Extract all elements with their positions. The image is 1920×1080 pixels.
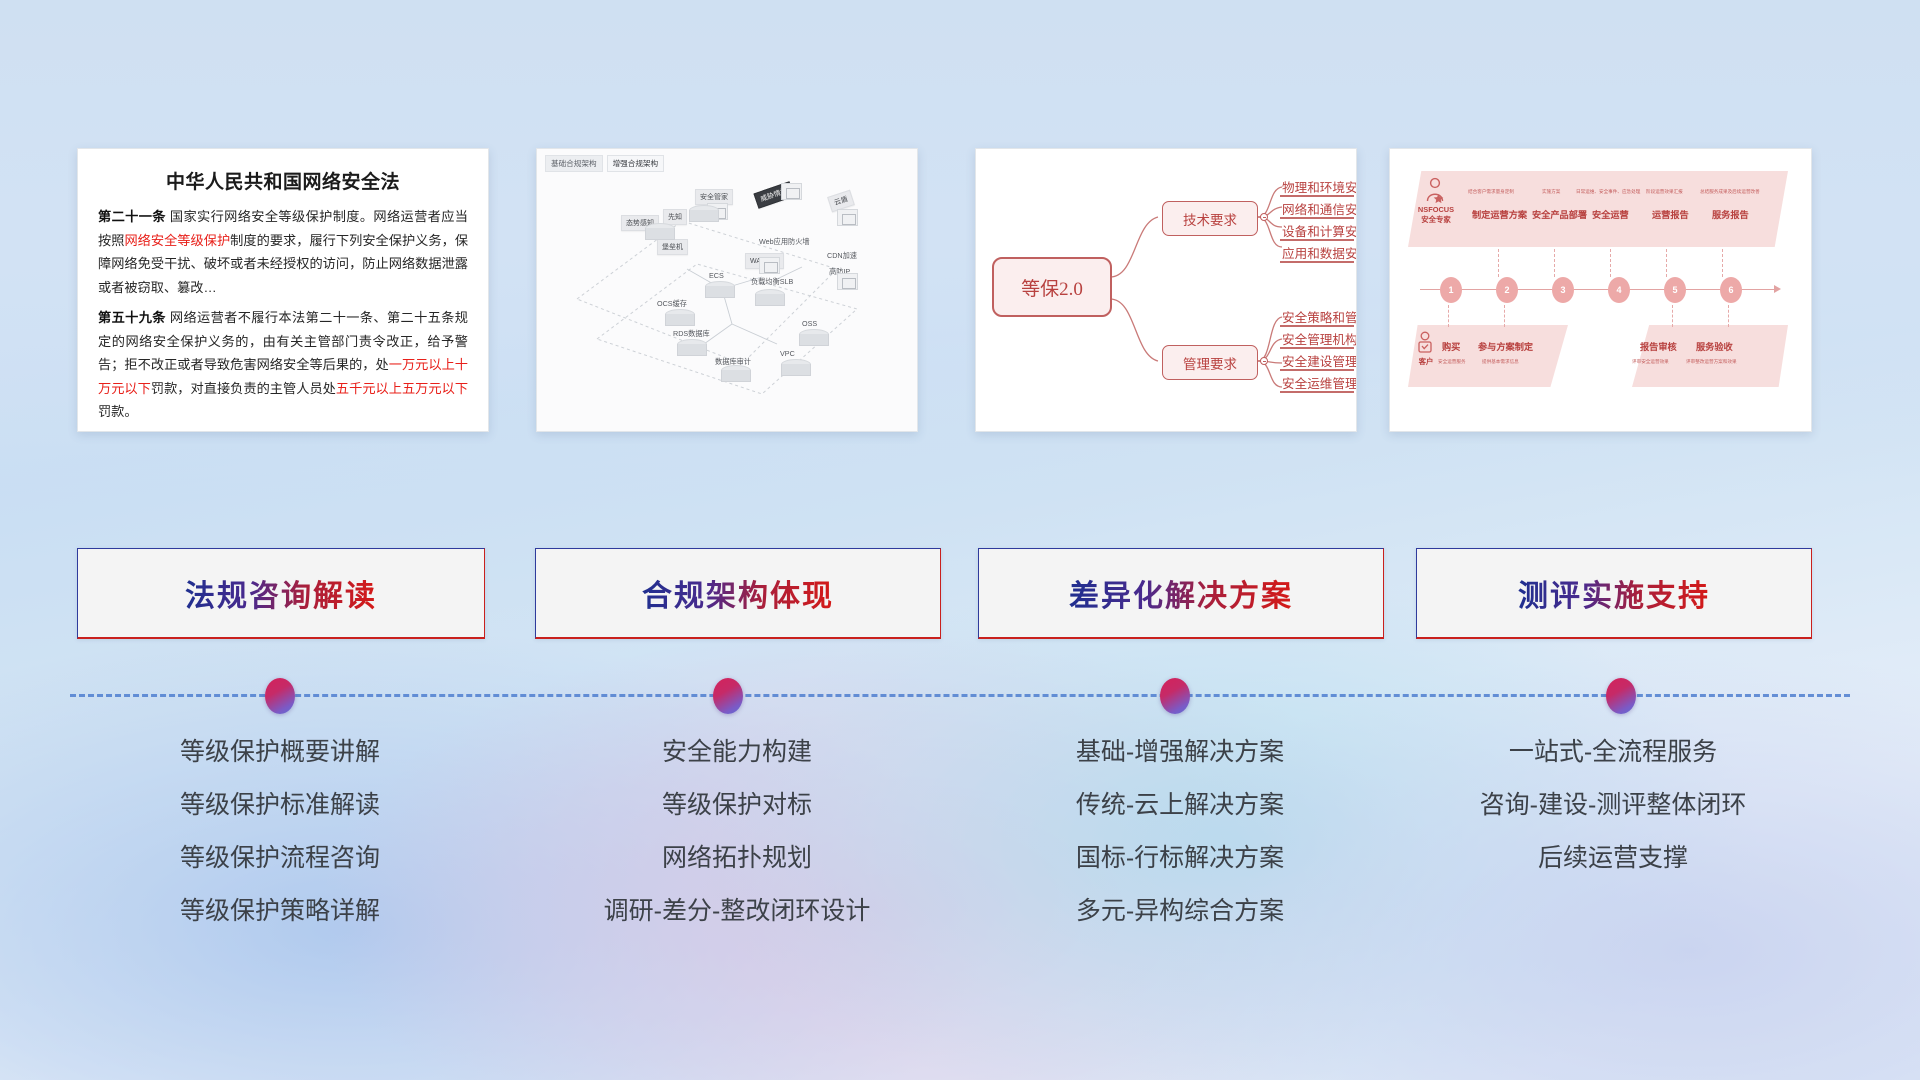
mindmap-collapse-icon-management[interactable] <box>1260 357 1268 365</box>
headline-box-compliance-architecture[interactable]: 合规架构体现 <box>535 548 941 639</box>
timeline-dashed-line <box>70 694 1850 697</box>
step-marker-5: 5 <box>1664 277 1686 303</box>
mindmap-leaf-underline-3 <box>1280 239 1354 241</box>
mindmap-leaf-underline-8 <box>1280 391 1354 393</box>
headline-box-regulation-consulting[interactable]: 法规咨询解读 <box>77 548 485 639</box>
top-step-1-main: 制定运营方案 <box>1472 207 1527 221</box>
law-article-59: 第五十九条 网络运营者不履行本法第二十一条、第二十五条规定的网络安全保护义务的，… <box>98 306 468 424</box>
mindmap-branch-technical: 技术要求 <box>1162 201 1258 236</box>
bottom-step-2-main: 参与方案制定 <box>1478 339 1533 353</box>
label-rds: RDS数据库 <box>673 329 710 339</box>
label-web-app-firewall: Web应用防火墙 <box>759 237 810 247</box>
headline-label-4: 测评实施支持 <box>1518 571 1710 615</box>
list-item: 等级保护策略详解 <box>77 899 483 924</box>
detail-list-regulation-consulting: 等级保护概要讲解 等级保护标准解读 等级保护流程咨询 等级保护策略详解 <box>77 740 483 952</box>
list-item: 多元-异构综合方案 <box>978 899 1382 924</box>
article-59-text-b: 罚款，对直接负责的主管人员处 <box>151 381 336 396</box>
headline-box-differentiated-solution[interactable]: 差异化解决方案 <box>978 548 1384 639</box>
db-cylinder-ecs <box>705 281 735 300</box>
headline-label-3: 差异化解决方案 <box>1069 571 1293 615</box>
connector-dash-2 <box>1554 249 1556 277</box>
list-item: 安全能力构建 <box>535 740 939 765</box>
list-item: 等级保护概要讲解 <box>77 740 483 765</box>
list-item: 等级保护标准解读 <box>77 793 483 818</box>
db-cylinder-oss <box>799 329 829 348</box>
detail-list-assessment-support: 一站式-全流程服务 咨询-建设-测评整体闭环 后续运营支撑 <box>1416 740 1810 899</box>
label-vpc: VPC <box>780 349 795 358</box>
connector-dash-8 <box>1672 305 1674 327</box>
headline-box-assessment-support[interactable]: 测评实施支持 <box>1416 548 1812 639</box>
top-step-5-main: 服务报告 <box>1712 207 1749 221</box>
detail-list-compliance-architecture: 安全能力构建 等级保护对标 网络拓扑规划 调研-差分-整改闭环设计 <box>535 740 939 952</box>
top-step-2-sub: 实施方案 <box>1542 189 1560 195</box>
slide-root: 中华人民共和国网络安全法 第二十一条 国家实行网络安全等级保护制度。网络运营者应… <box>0 0 1920 1080</box>
top-step-3-main: 安全运营 <box>1592 207 1629 221</box>
article-21-highlight: 网络安全等级保护 <box>124 233 230 248</box>
list-item: 等级保护流程咨询 <box>77 846 483 871</box>
list-item: 调研-差分-整改闭环设计 <box>535 899 939 924</box>
law-article-21: 第二十一条 国家实行网络安全等级保护制度。网络运营者应当按照网络安全等级保护制度… <box>98 205 468 299</box>
db-cylinder-vpc <box>781 359 811 378</box>
connector-dash-6 <box>1448 305 1450 327</box>
db-cylinder-ocs <box>665 309 695 328</box>
headline-label-1: 法规咨询解读 <box>185 571 377 615</box>
mindmap-leaf-device-compute: 设备和计算安全 <box>1282 221 1357 240</box>
list-item: 网络拓扑规划 <box>535 846 939 871</box>
customer-band-right <box>1632 325 1788 387</box>
bottom-step-3-main: 报告审核 <box>1640 339 1677 353</box>
card-cybersecurity-law[interactable]: 中华人民共和国网络安全法 第二十一条 国家实行网络安全等级保护制度。网络运营者应… <box>77 148 489 432</box>
mindmap-leaf-underline-7 <box>1280 369 1354 371</box>
mindmap-leaf-underline-4 <box>1280 261 1354 263</box>
list-item: 一站式-全流程服务 <box>1416 740 1810 765</box>
article-59-text-c: 罚款。 <box>98 404 138 419</box>
timeline-node-1[interactable] <box>265 678 295 714</box>
db-cylinder-butler <box>689 205 719 224</box>
detail-list-differentiated-solution: 基础-增强解决方案 传统-云上解决方案 国标-行标解决方案 多元-异构综合方案 <box>978 740 1382 952</box>
step-marker-3: 3 <box>1552 277 1574 303</box>
mindmap-leaf-org-personnel: 安全管理机构和人员 <box>1282 329 1357 348</box>
step-marker-2: 2 <box>1496 277 1518 303</box>
brand-line-1: NSFOCUS <box>1418 205 1454 214</box>
label-cdn: CDN加速 <box>827 251 857 261</box>
db-cylinder-rds <box>677 339 707 358</box>
list-item: 传统-云上解决方案 <box>978 793 1382 818</box>
customer-label: 客户 <box>1412 357 1440 367</box>
article-59-highlight-b: 五千元以上五万元以下 <box>336 381 468 396</box>
server-icon-3 <box>837 209 858 226</box>
connector-dash-7 <box>1504 305 1506 327</box>
mindmap-leaf-physical-env: 物理和环境安全 <box>1282 177 1357 196</box>
mindmap-leaf-network-comm: 网络和通信安全 <box>1282 199 1357 218</box>
connector-dash-1 <box>1498 249 1500 277</box>
bottom-step-1-sub: 安全运营服务 <box>1438 359 1466 365</box>
mindmap-leaf-app-data: 应用和数据安全 <box>1282 243 1357 262</box>
server-icon-5 <box>837 273 858 290</box>
connector-dash-4 <box>1666 249 1668 277</box>
article-21-label: 第二十一条 <box>98 209 166 224</box>
timeline-node-2[interactable] <box>713 678 743 714</box>
card-nsfocus-service-flow[interactable]: NSFOCUS 安全专家 结合客户需求量身定制 制定运营方案 实施方案 安全产品… <box>1389 148 1812 432</box>
nsfocus-timeline: NSFOCUS 安全专家 结合客户需求量身定制 制定运营方案 实施方案 安全产品… <box>1390 149 1811 431</box>
bottom-step-2-sub: 提供基本需求信息 <box>1482 359 1519 365</box>
list-item: 基础-增强解决方案 <box>978 740 1382 765</box>
top-step-4-sub: 阶段运营效果汇报 <box>1646 189 1683 195</box>
nsfocus-brand-label: NSFOCUS 安全专家 <box>1410 205 1462 224</box>
card-cloud-architecture[interactable]: 基础合规架构 增强合规架构 <box>536 148 918 432</box>
customer-person-icon <box>1416 331 1434 357</box>
timeline-node-4[interactable] <box>1606 678 1636 714</box>
list-item: 咨询-建设-测评整体闭环 <box>1416 793 1810 818</box>
process-timeline <box>70 694 1850 697</box>
list-item: 后续运营支撑 <box>1416 846 1810 871</box>
mindmap: 等保2.0 技术要求 物理和环境安全 网络和通信安全 设备和计算安全 应用和数据… <box>976 149 1356 431</box>
label-ecs: ECS <box>709 271 724 280</box>
mindmap-leaf-underline-1 <box>1280 195 1354 197</box>
mindmap-leaf-underline-5 <box>1280 325 1354 327</box>
bottom-step-1-main: 购买 <box>1442 339 1460 353</box>
list-item: 等级保护对标 <box>535 793 939 818</box>
connector-dash-9 <box>1728 305 1730 327</box>
expert-person-icon <box>1424 177 1446 203</box>
db-cylinder-audit <box>721 365 751 384</box>
top-step-1-sub: 结合客户需求量身定制 <box>1468 189 1514 195</box>
step-marker-4: 4 <box>1608 277 1630 303</box>
law-document: 中华人民共和国网络安全法 第二十一条 国家实行网络安全等级保护制度。网络运营者应… <box>78 149 488 431</box>
article-59-label: 第五十九条 <box>98 310 166 325</box>
mindmap-leaf-operation: 安全运维管理 <box>1282 373 1357 392</box>
connector-dash-3 <box>1610 249 1612 277</box>
top-step-4-main: 运营报告 <box>1652 207 1689 221</box>
step-marker-6: 6 <box>1720 277 1742 303</box>
label-slb: 负载均衡SLB <box>751 277 793 287</box>
timeline-arrow-icon <box>1774 285 1781 293</box>
bottom-step-4-main: 服务验收 <box>1696 339 1733 353</box>
label-ocs-cache: OCS缓存 <box>657 299 687 309</box>
top-step-2-main: 安全产品部署 <box>1532 207 1587 221</box>
server-icon-2 <box>781 183 802 200</box>
list-item: 国标-行标解决方案 <box>978 846 1382 871</box>
bottom-step-4-sub: 评审整改运营方案和效果 <box>1686 359 1737 365</box>
card-mindmap-dengbao[interactable]: 等保2.0 技术要求 物理和环境安全 网络和通信安全 设备和计算安全 应用和数据… <box>975 148 1357 432</box>
top-step-5-sub: 总结服务成果及后续运营改善 <box>1700 189 1760 195</box>
top-step-3-sub: 日常运维、安全事件、应急处理 <box>1576 189 1640 195</box>
law-title: 中华人民共和国网络安全法 <box>98 167 468 194</box>
bottom-step-3-sub: 评审安全运营效果 <box>1632 359 1669 365</box>
mindmap-leaf-underline-2 <box>1280 217 1354 219</box>
mindmap-branch-management: 管理要求 <box>1162 345 1258 380</box>
mindmap-root-node: 等保2.0 <box>992 257 1112 317</box>
db-cylinder-xianzhi <box>645 223 675 242</box>
headline-label-2: 合规架构体现 <box>642 571 834 615</box>
step-marker-1: 1 <box>1440 277 1462 303</box>
mindmap-leaf-underline-6 <box>1280 347 1354 349</box>
label-oss: OSS <box>802 319 817 328</box>
db-cylinder-slb <box>755 289 785 308</box>
mindmap-leaf-construction: 安全建设管理 <box>1282 351 1357 370</box>
server-icon-4 <box>759 257 780 274</box>
mindmap-leaf-policy-system: 安全策略和管理制度 <box>1282 307 1357 326</box>
architecture-diagram: 基础合规架构 增强合规架构 <box>537 149 917 431</box>
brand-line-2: 安全专家 <box>1421 215 1451 224</box>
mindmap-collapse-icon-technical[interactable] <box>1260 213 1268 221</box>
connector-dash-5 <box>1722 249 1724 277</box>
timeline-node-3[interactable] <box>1160 678 1190 714</box>
